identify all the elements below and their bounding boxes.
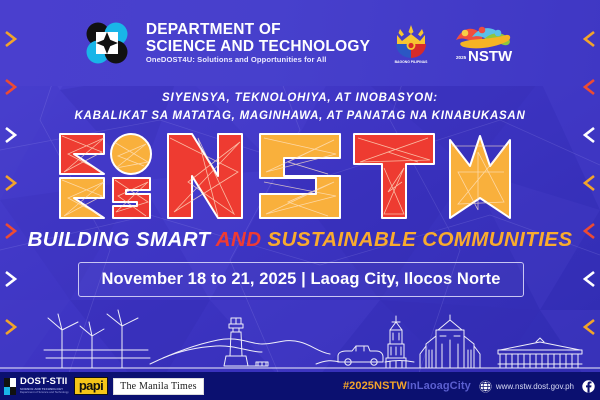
svg-text:2025: 2025 bbox=[456, 55, 467, 60]
chevron-right-4 bbox=[583, 174, 596, 192]
slogan-part-3: SUSTAINABLE COMMUNITIES bbox=[261, 228, 572, 251]
stii-wordmark: DOST-STII SCIENCE AND TECHNOLOGY Departm… bbox=[20, 377, 69, 395]
theme-line-2: KABALIKAT SA MATATAG, MAGINHAWA, AT PANA… bbox=[0, 110, 600, 122]
manila-times-logo: The Manila Times bbox=[113, 378, 204, 395]
theme-text: SIYENSYA, TEKNOLOHIYA, AT INOBASYON: KAB… bbox=[0, 92, 600, 122]
date-location-text: November 18 to 21, 2025 | Laoag City, Il… bbox=[101, 270, 500, 289]
skyline-illustration bbox=[0, 300, 600, 372]
footer-partner-logos: DOST-STII SCIENCE AND TECHNOLOGY Departm… bbox=[0, 377, 204, 396]
dost-tagline: OneDOST4U: Solutions and Opportunities f… bbox=[146, 56, 370, 64]
footer-social-row: #2025NSTWInLaoagCity www.nstw.dost.gov.p… bbox=[343, 380, 600, 393]
footer-bar: DOST-STII SCIENCE AND TECHNOLOGY Departm… bbox=[0, 372, 600, 400]
date-location-bar: November 18 to 21, 2025 | Laoag City, Il… bbox=[78, 262, 524, 297]
facebook-icon[interactable] bbox=[582, 380, 595, 393]
dost-stii-logo: DOST-STII SCIENCE AND TECHNOLOGY Departm… bbox=[4, 377, 69, 396]
bagong-pilipinas-logo: BAGONG PILIPINAS bbox=[388, 21, 434, 65]
chevron-right-6 bbox=[583, 270, 596, 288]
dost-line-2: SCIENCE AND TECHNOLOGY bbox=[146, 39, 370, 55]
event-hashtag: #2025NSTWInLaoagCity bbox=[343, 380, 471, 392]
hashtag-primary: #2025NSTW bbox=[343, 380, 407, 392]
slogan-part-1: BUILDING SMART bbox=[28, 228, 216, 251]
dost-clover-logo bbox=[86, 22, 128, 64]
chevron-left-7 bbox=[4, 318, 17, 336]
svg-text:NSTW: NSTW bbox=[468, 48, 513, 64]
hashtag-secondary: InLaoagCity bbox=[407, 380, 471, 392]
chevron-right-2 bbox=[583, 78, 596, 96]
chevron-left-2 bbox=[4, 78, 17, 96]
header-logo-row: DEPARTMENT OF SCIENCE AND TECHNOLOGY One… bbox=[0, 0, 600, 86]
papi-logo: papi bbox=[74, 377, 108, 395]
chevron-right-5 bbox=[583, 222, 596, 240]
nstw-wordmark-graphic bbox=[58, 132, 542, 220]
stii-mark-icon bbox=[4, 377, 17, 396]
chevron-left-6 bbox=[4, 270, 17, 288]
stii-sub-3: Department of Science and Technology bbox=[20, 392, 69, 395]
chevron-left-1 bbox=[4, 30, 17, 48]
chevron-left-5 bbox=[4, 222, 17, 240]
website-link[interactable]: www.nstw.dost.gov.ph bbox=[479, 380, 574, 393]
theme-line-1: SIYENSYA, TEKNOLOHIYA, AT INOBASYON: bbox=[0, 92, 600, 104]
dost-wordmark: DEPARTMENT OF SCIENCE AND TECHNOLOGY One… bbox=[146, 22, 370, 64]
chevron-left-4 bbox=[4, 174, 17, 192]
dost-line-1: DEPARTMENT OF bbox=[146, 22, 370, 38]
slogan: BUILDING SMART AND SUSTAINABLE COMMUNITI… bbox=[0, 228, 600, 252]
nstw-poster: DEPARTMENT OF SCIENCE AND TECHNOLOGY One… bbox=[0, 0, 600, 400]
chevron-left-3 bbox=[4, 126, 17, 144]
svg-text:BAGONG PILIPINAS: BAGONG PILIPINAS bbox=[395, 60, 429, 64]
stii-name: DOST-STII bbox=[20, 377, 69, 387]
nstw-people-logo: 2025 NSTW bbox=[452, 22, 514, 64]
chevron-right-3 bbox=[583, 126, 596, 144]
chevron-right-1 bbox=[583, 30, 596, 48]
website-url: www.nstw.dost.gov.ph bbox=[496, 382, 574, 391]
globe-icon bbox=[479, 380, 492, 393]
slogan-part-2: AND bbox=[216, 228, 262, 251]
chevron-right-7 bbox=[583, 318, 596, 336]
